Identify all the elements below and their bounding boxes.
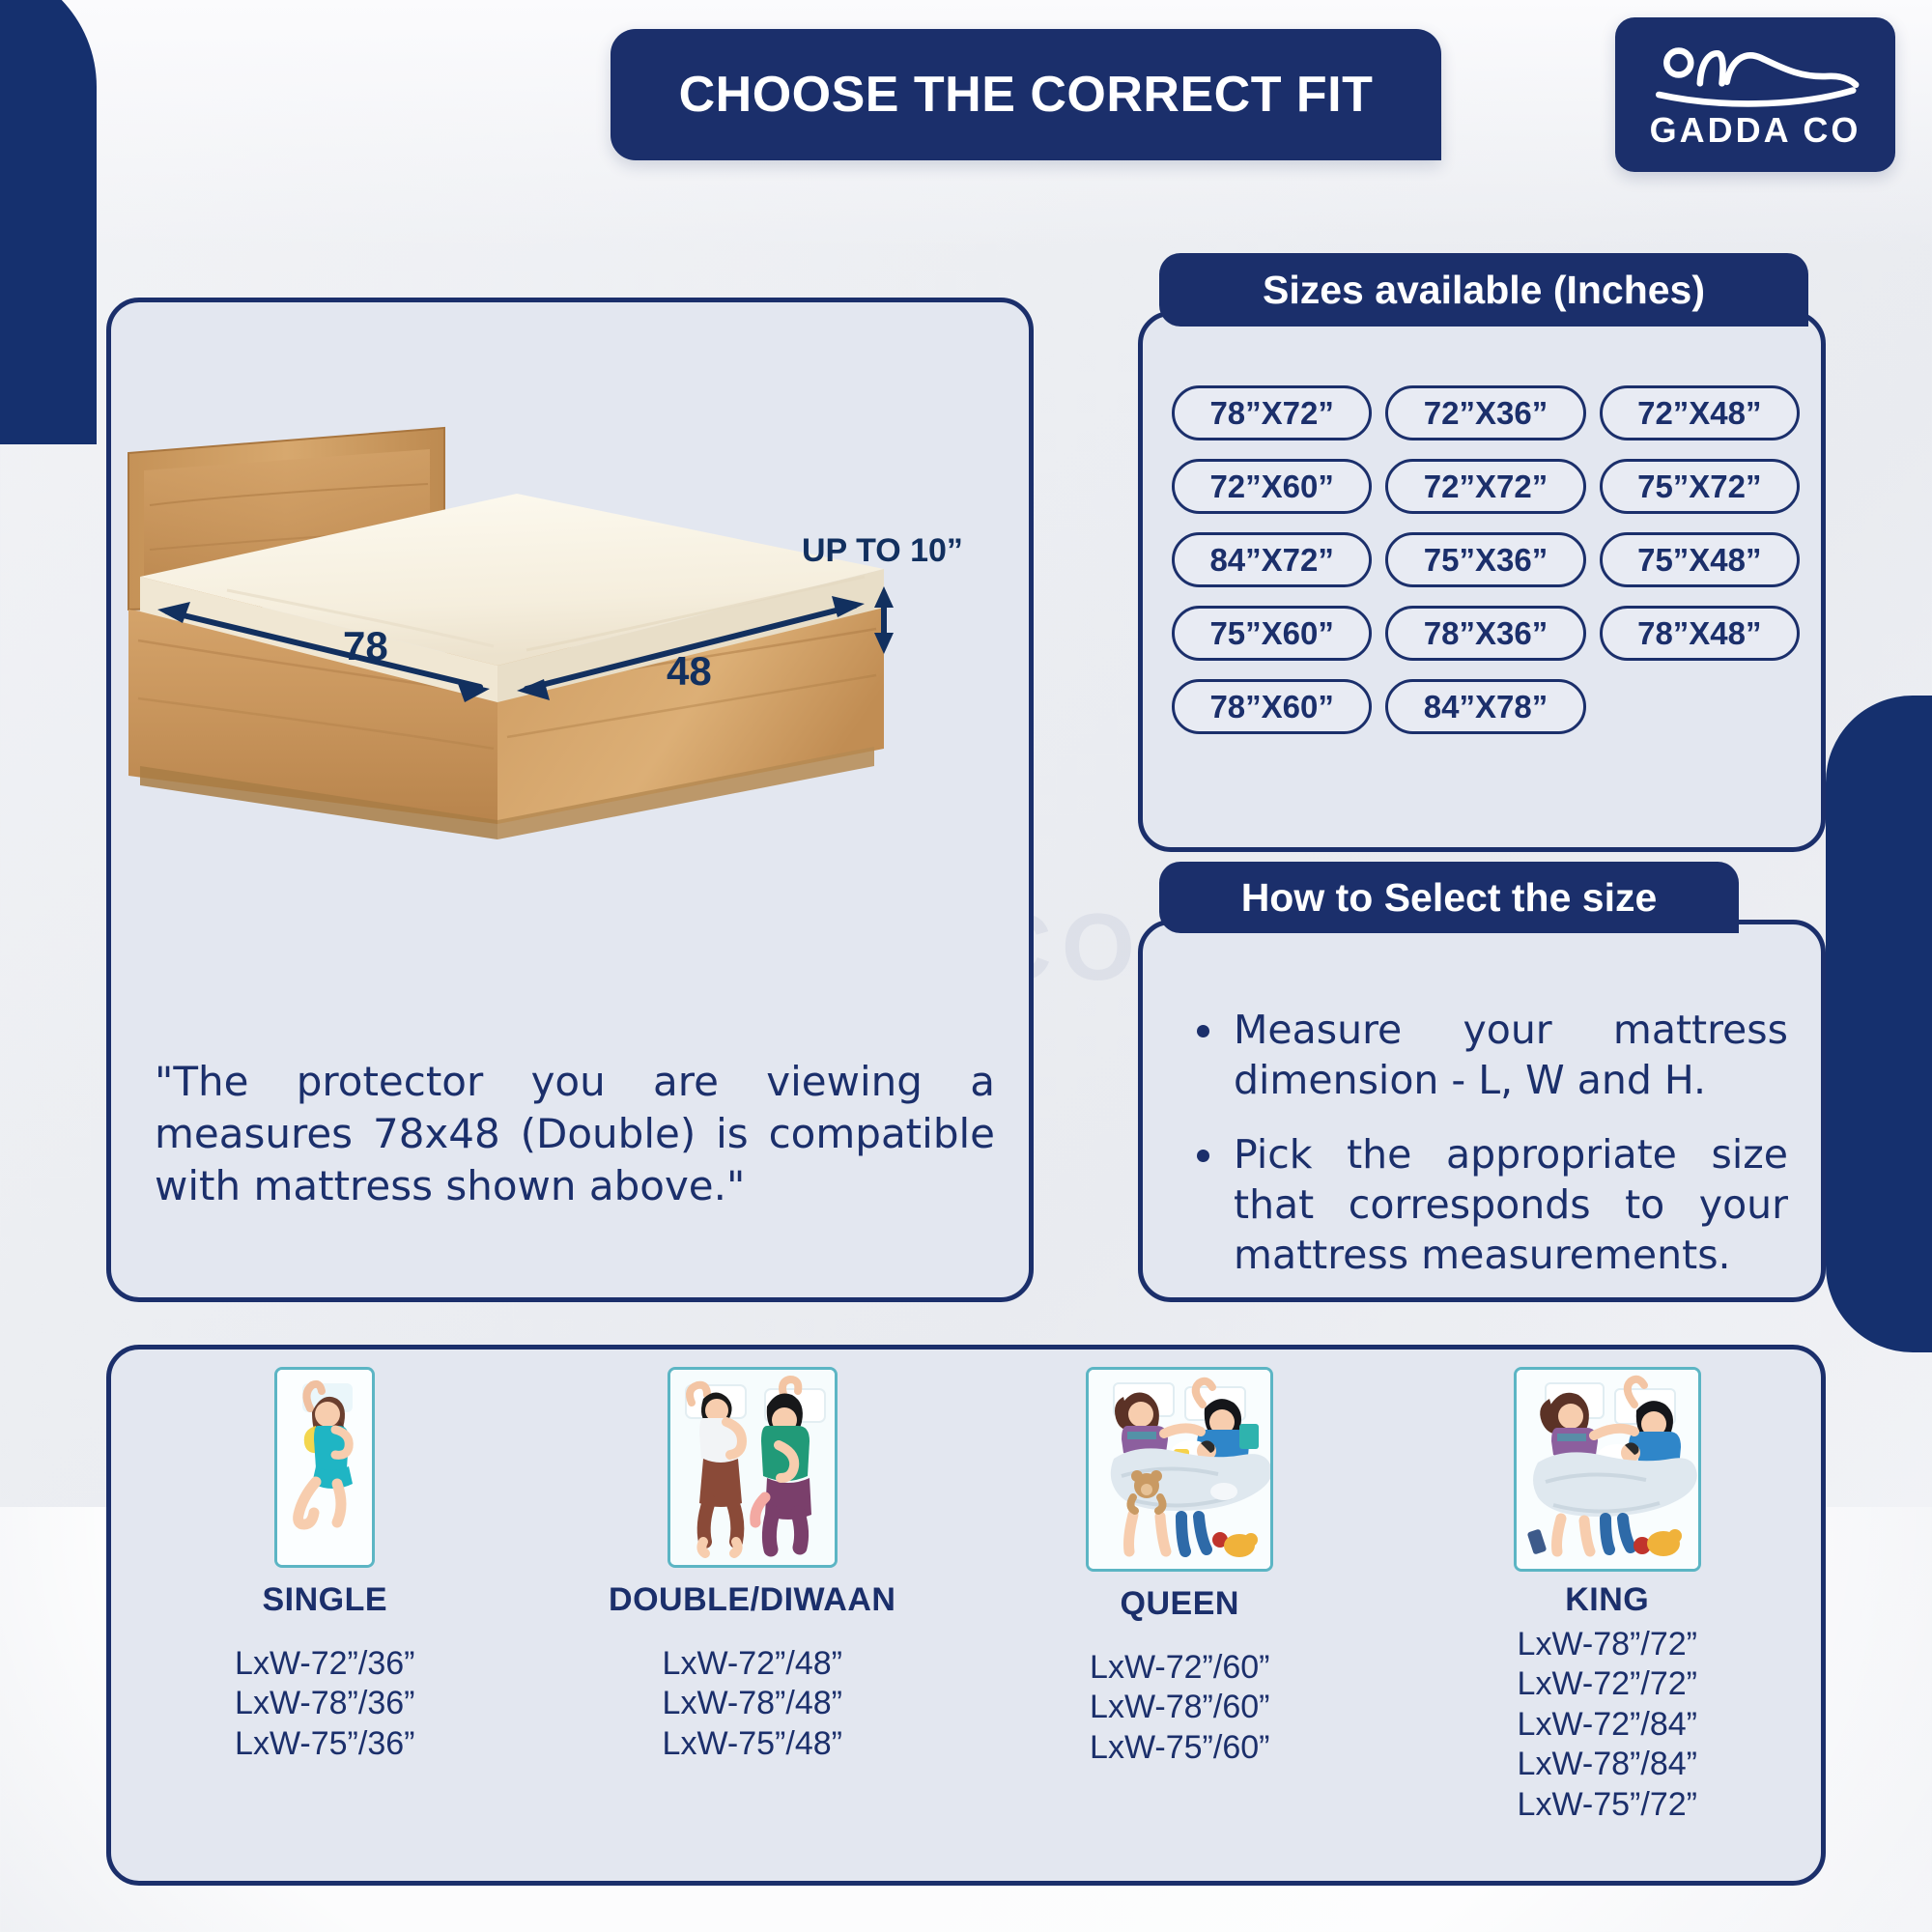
bed-types-row: SINGLE LxW-72”/36” LxW-78”/36” LxW-75”/3… <box>111 1350 1821 1881</box>
bed-type-label: DOUBLE/DIWAAN <box>609 1581 895 1619</box>
reclining-person-icon <box>1649 39 1861 108</box>
sizes-panel: 78”X72” 72”X36” 72”X48” 72”X60” 72”X72” … <box>1138 311 1826 852</box>
family-with-child-icon <box>1514 1367 1701 1572</box>
size-chip[interactable]: 78”X60” <box>1172 679 1372 734</box>
family-with-baby-icon <box>1086 1367 1273 1572</box>
bed-height-label: UP TO 10” <box>802 532 963 570</box>
size-chip-grid: 78”X72” 72”X36” 72”X48” 72”X60” 72”X72” … <box>1172 385 1800 734</box>
how-to-panel-title: How to Select the size <box>1241 875 1658 921</box>
bed-diagram: 78 48 UP TO 10” <box>111 370 1038 911</box>
bed-type-king[interactable]: KING LxW-78”/72” LxW-72”/72” LxW-72”/84”… <box>1394 1350 1822 1825</box>
how-to-bullet-list: Measure your mattress dimension - L, W a… <box>1187 1006 1788 1280</box>
size-chip[interactable]: 75”X48” <box>1600 532 1800 587</box>
how-to-panel-header: How to Select the size <box>1159 862 1739 933</box>
compatibility-quote: "The protector you are viewing a measure… <box>155 1056 995 1211</box>
bed-type-label: QUEEN <box>1121 1585 1239 1623</box>
list-item: Measure your mattress dimension - L, W a… <box>1187 1006 1788 1105</box>
size-chip[interactable]: 75”X60” <box>1172 606 1372 661</box>
bed-type-dimensions: LxW-72”/36” LxW-78”/36” LxW-75”/36” <box>235 1644 414 1764</box>
size-chip[interactable]: 75”X72” <box>1600 459 1800 514</box>
bed-type-dimensions: LxW-72”/60” LxW-78”/60” LxW-75”/60” <box>1090 1648 1269 1768</box>
two-sleepers-icon <box>668 1367 838 1568</box>
page-title-banner: CHOOSE THE CORRECT FIT <box>611 29 1441 160</box>
size-chip[interactable]: 78”X48” <box>1600 606 1800 661</box>
decor-shape-right <box>1826 696 1932 1352</box>
bed-type-label: KING <box>1565 1581 1649 1619</box>
brand-logo: GADDA CO <box>1615 17 1895 172</box>
bed-type-queen[interactable]: QUEEN LxW-72”/60” LxW-78”/60” LxW-75”/60… <box>966 1350 1394 1768</box>
size-chip[interactable]: 75”X36” <box>1385 532 1585 587</box>
bed-type-dimensions: LxW-72”/48” LxW-78”/48” LxW-75”/48” <box>663 1644 842 1764</box>
sizes-panel-title: Sizes available (Inches) <box>1263 268 1705 313</box>
bed-type-dimensions: LxW-78”/72” LxW-72”/72” LxW-72”/84” LxW-… <box>1518 1625 1697 1825</box>
bed-illustration-panel: 78 48 UP TO 10” "The protector you are v… <box>106 298 1034 1302</box>
brand-logo-text: GADDA CO <box>1650 110 1861 151</box>
one-sleeper-icon <box>274 1367 375 1568</box>
size-chip[interactable]: 84”X78” <box>1385 679 1585 734</box>
page-title: CHOOSE THE CORRECT FIT <box>679 66 1374 124</box>
size-chip[interactable]: 72”X60” <box>1172 459 1372 514</box>
decor-shape-top-left <box>0 0 97 444</box>
size-chip[interactable]: 72”X36” <box>1385 385 1585 440</box>
size-chip[interactable]: 78”X72” <box>1172 385 1372 440</box>
bed-image <box>111 370 1038 911</box>
bed-width-label: 48 <box>667 648 712 695</box>
size-chip[interactable]: 84”X72” <box>1172 532 1372 587</box>
bed-length-label: 78 <box>343 623 388 669</box>
bed-types-panel: SINGLE LxW-72”/36” LxW-78”/36” LxW-75”/3… <box>106 1345 1826 1886</box>
bed-type-double[interactable]: DOUBLE/DIWAAN LxW-72”/48” LxW-78”/48” Lx… <box>539 1350 967 1764</box>
sizes-panel-header: Sizes available (Inches) <box>1159 253 1808 327</box>
bed-type-label: SINGLE <box>262 1581 387 1619</box>
size-chip-placeholder <box>1600 679 1800 734</box>
bed-type-single[interactable]: SINGLE LxW-72”/36” LxW-78”/36” LxW-75”/3… <box>111 1350 539 1764</box>
size-chip[interactable]: 72”X48” <box>1600 385 1800 440</box>
size-chip[interactable]: 72”X72” <box>1385 459 1585 514</box>
how-to-panel: Measure your mattress dimension - L, W a… <box>1138 920 1826 1302</box>
size-chip[interactable]: 78”X36” <box>1385 606 1585 661</box>
list-item: Pick the appropriate size that correspon… <box>1187 1130 1788 1280</box>
